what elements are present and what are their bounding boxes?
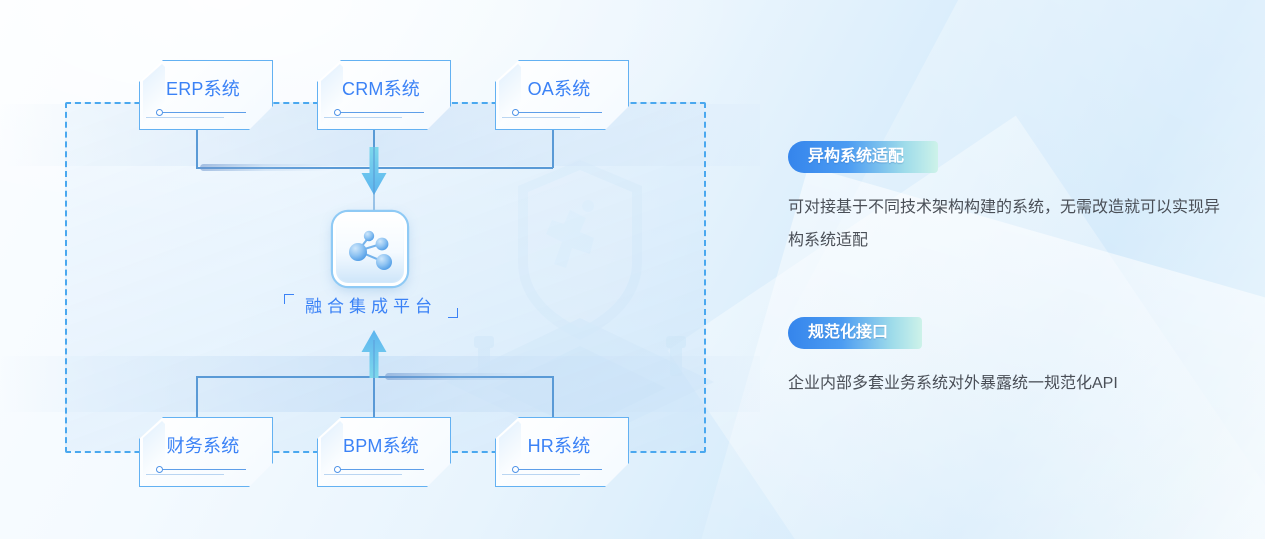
node-dot-icon	[156, 109, 163, 116]
integration-diagram: ERP系统 CRM系统 OA系统	[0, 0, 760, 539]
connector-platform-stem-bottom	[373, 340, 375, 424]
feature-description: 可对接基于不同技术架构构建的系统，无需改造就可以实现异构系统适配	[788, 191, 1232, 257]
node-bar	[519, 469, 602, 471]
feature-badge: 规范化接口	[788, 317, 922, 349]
node-label: HR系统	[496, 432, 622, 458]
node-label: BPM系统	[318, 432, 444, 458]
platform-icon-frame[interactable]	[333, 212, 407, 286]
bracket-right-icon	[448, 308, 458, 318]
node-bar	[341, 112, 424, 114]
node-decoration	[512, 107, 612, 117]
node-decoration	[156, 107, 256, 117]
node-label: OA系统	[496, 75, 622, 101]
system-node-crm[interactable]: CRM系统	[317, 60, 451, 130]
feature-description: 企业内部多套业务系统对外暴露统一规范化API	[788, 367, 1232, 400]
system-node-oa[interactable]: OA系统	[495, 60, 629, 130]
feature-panel: 异构系统适配 可对接基于不同技术架构构建的系统，无需改造就可以实现异构系统适配 …	[788, 0, 1248, 539]
node-label: 财务系统	[140, 432, 266, 458]
node-bar-secondary	[502, 474, 580, 475]
connector-oa-down	[552, 130, 554, 168]
node-decoration	[334, 107, 434, 117]
node-bar	[341, 469, 424, 471]
node-decoration	[156, 464, 256, 474]
system-node-finance[interactable]: 财务系统	[139, 417, 273, 487]
system-node-erp[interactable]: ERP系统	[139, 60, 273, 130]
node-bar-secondary	[502, 117, 580, 118]
node-bar	[163, 112, 246, 114]
node-bar-secondary	[324, 474, 402, 475]
feature-badge: 异构系统适配	[788, 141, 938, 173]
node-decoration	[334, 464, 434, 474]
node-bar	[163, 469, 246, 471]
node-dot-icon	[334, 466, 341, 473]
node-dot-icon	[512, 109, 519, 116]
node-decoration	[512, 464, 612, 474]
node-dot-icon	[512, 466, 519, 473]
connector-platform-stem-top	[373, 130, 375, 212]
node-bar-secondary	[324, 117, 402, 118]
node-label: CRM系统	[318, 75, 444, 101]
node-dot-icon	[334, 109, 341, 116]
feature-item-heterogeneous: 异构系统适配 可对接基于不同技术架构构建的系统，无需改造就可以实现异构系统适配	[788, 141, 1248, 257]
node-bar-secondary	[146, 117, 224, 118]
node-label: ERP系统	[140, 75, 266, 101]
node-dot-icon	[156, 466, 163, 473]
connector-finance-up	[196, 376, 198, 422]
node-bar-secondary	[146, 474, 224, 475]
node-bar	[519, 112, 602, 114]
system-node-hr[interactable]: HR系统	[495, 417, 629, 487]
network-nodes-icon	[336, 215, 404, 283]
feature-item-standard-api: 规范化接口 企业内部多套业务系统对外暴露统一规范化API	[788, 317, 1248, 400]
connector-hr-up	[552, 376, 554, 422]
system-node-bpm[interactable]: BPM系统	[317, 417, 451, 487]
infographic-stage: ERP系统 CRM系统 OA系统	[0, 0, 1265, 539]
connector-erp-down	[196, 130, 198, 168]
